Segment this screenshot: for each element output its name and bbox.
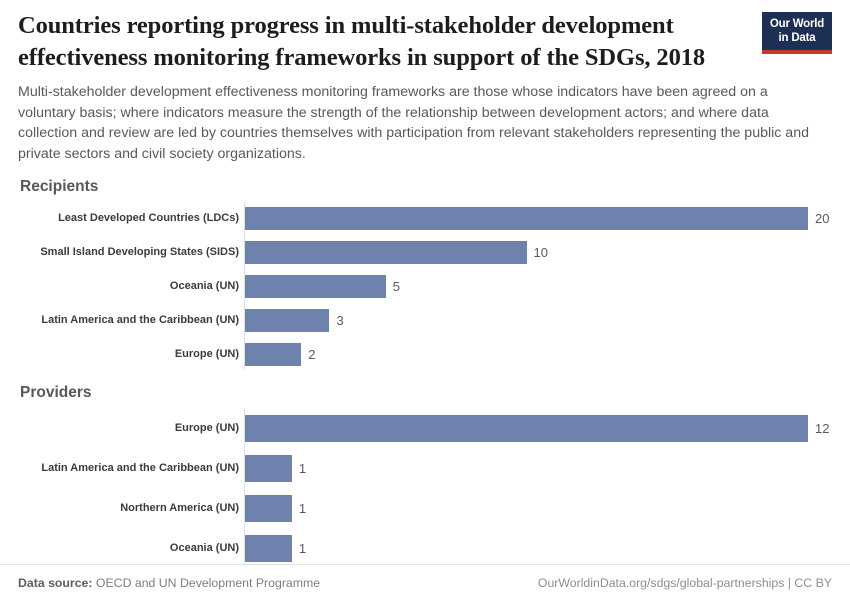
attribution-link[interactable]: OurWorldinData.org/sdgs/global-partnersh… (538, 576, 832, 590)
bar-category-label: Latin America and the Caribbean (UN) (19, 314, 245, 326)
chart-subtitle: Multi-stakeholder development effectiven… (18, 82, 828, 164)
chart-header: Countries reporting progress in multi-st… (0, 0, 850, 164)
chart-panel-recipients: RecipientsLeast Developed Countries (LDC… (18, 178, 832, 370)
bar-value-label: 12 (808, 421, 829, 436)
bar-row[interactable]: Oceania (UN)1 (245, 535, 832, 562)
bar-value-label: 20 (808, 211, 829, 226)
bar-row[interactable]: Europe (UN)2 (245, 343, 832, 366)
data-source-text: OECD and UN Development Programme (93, 576, 321, 590)
bar-category-label: Latin America and the Caribbean (UN) (19, 462, 245, 474)
bar-category-label: Europe (UN) (19, 348, 245, 360)
bar-value-label: 1 (292, 541, 306, 556)
panel-rows: Europe (UN)12Latin America and the Carib… (244, 408, 832, 566)
bar-value-label: 10 (527, 245, 548, 260)
bar-category-label: Europe (UN) (19, 422, 245, 434)
bar-value-label: 3 (329, 313, 343, 328)
bar-row[interactable]: Least Developed Countries (LDCs)20 (245, 207, 832, 230)
bar-category-label: Least Developed Countries (LDCs) (19, 212, 245, 224)
owid-logo[interactable]: Our World in Data (762, 12, 832, 54)
bar[interactable] (245, 495, 292, 522)
bar-category-label: Small Island Developing States (SIDS) (19, 246, 245, 258)
bar[interactable] (245, 455, 292, 482)
chart-panel-providers: ProvidersEurope (UN)12Latin America and … (18, 384, 832, 566)
owid-logo-line-1: Our World (766, 17, 828, 31)
chart-footer: Data source: OECD and UN Development Pro… (0, 564, 850, 600)
bar[interactable] (245, 275, 386, 298)
bar-value-label: 2 (301, 347, 315, 362)
bar-row[interactable]: Latin America and the Caribbean (UN)3 (245, 309, 832, 332)
bar[interactable] (245, 343, 301, 366)
bar-row[interactable]: Small Island Developing States (SIDS)10 (245, 241, 832, 264)
panel-rows: Least Developed Countries (LDCs)20Small … (244, 202, 832, 370)
bar-row[interactable]: Northern America (UN)1 (245, 495, 832, 522)
bar[interactable] (245, 309, 329, 332)
panel-title-providers: Providers (18, 384, 832, 402)
owid-logo-line-2: in Data (766, 31, 828, 45)
data-source: Data source: OECD and UN Development Pro… (18, 576, 320, 590)
bar-row[interactable]: Latin America and the Caribbean (UN)1 (245, 455, 832, 482)
bar-category-label: Oceania (UN) (19, 280, 245, 292)
data-source-label: Data source: (18, 576, 93, 590)
bar-row[interactable]: Europe (UN)12 (245, 415, 832, 442)
bar-category-label: Northern America (UN) (19, 502, 245, 514)
bar[interactable] (245, 535, 292, 562)
page-title: Countries reporting progress in multi-st… (18, 10, 738, 73)
bar-value-label: 1 (292, 501, 306, 516)
chart-body: RecipientsLeast Developed Countries (LDC… (0, 178, 850, 566)
bar-value-label: 1 (292, 461, 306, 476)
panel-title-recipients: Recipients (18, 178, 832, 196)
bar-category-label: Oceania (UN) (19, 542, 245, 554)
bar[interactable] (245, 415, 808, 442)
bar[interactable] (245, 241, 527, 264)
bar-value-label: 5 (386, 279, 400, 294)
bar-row[interactable]: Oceania (UN)5 (245, 275, 832, 298)
bar[interactable] (245, 207, 808, 230)
